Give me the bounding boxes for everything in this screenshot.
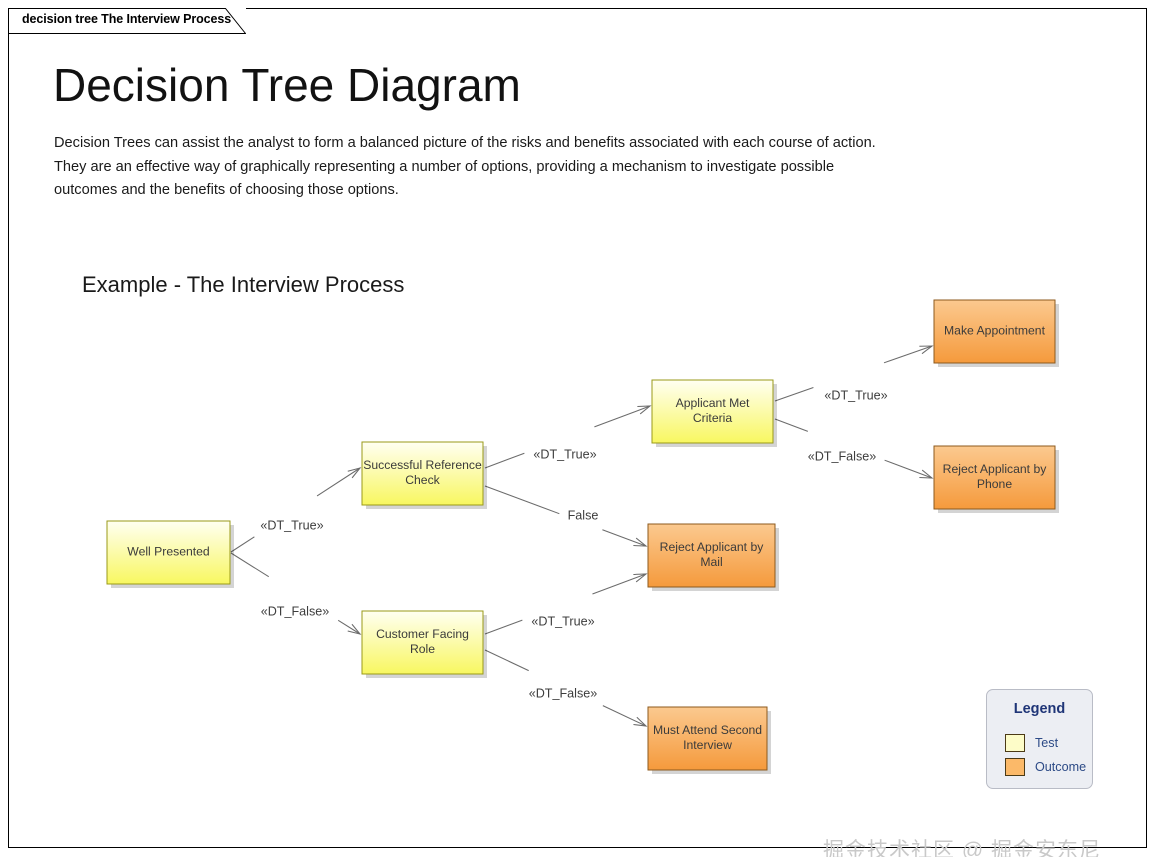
edge-line	[775, 388, 813, 401]
node-customer-facing-role[interactable]: Customer FacingRole	[362, 611, 487, 678]
edge-label: «DT_False»	[808, 449, 877, 463]
edge-line	[592, 574, 646, 594]
node-label: Check	[405, 473, 440, 487]
legend-swatch-outcome	[1005, 758, 1025, 776]
edge-label: «DT_False»	[261, 604, 330, 618]
edge-line	[603, 706, 646, 726]
node-label: Reject Applicant by	[943, 462, 1048, 476]
edge-label: False	[568, 508, 599, 522]
node-make-appointment[interactable]: Make Appointment	[934, 300, 1059, 367]
node-label: Mail	[700, 555, 722, 569]
node-reject-applicant-phone[interactable]: Reject Applicant byPhone	[934, 446, 1059, 513]
edge-successful-reference-to-applicant-met-criteria: «DT_True»	[485, 406, 650, 468]
edge-line	[594, 406, 650, 427]
node-label: Well Presented	[127, 545, 209, 559]
edge-line	[884, 346, 932, 363]
edge-label: «DT_True»	[533, 447, 596, 461]
node-label: Phone	[977, 477, 1012, 491]
node-label: Criteria	[693, 411, 732, 425]
edge-label: «DT_True»	[260, 518, 323, 532]
node-reject-applicant-mail[interactable]: Reject Applicant byMail	[648, 524, 779, 591]
node-successful-reference[interactable]: Successful ReferenceCheck	[362, 442, 487, 509]
edge-successful-reference-to-reject-applicant-mail: False	[485, 486, 646, 546]
node-label: Successful Reference	[363, 458, 482, 472]
legend-item-test: Test	[1005, 734, 1058, 752]
edge-arrowhead	[348, 624, 360, 634]
document-tab[interactable]: decision tree The Interview Process	[8, 8, 246, 33]
edge-arrowhead	[348, 468, 360, 478]
node-must-attend-second[interactable]: Must Attend SecondInterview	[648, 707, 771, 774]
node-well-presented[interactable]: Well Presented	[107, 521, 234, 588]
edge-line	[885, 460, 932, 478]
edge-customer-facing-role-to-reject-applicant-mail: «DT_True»	[485, 574, 646, 634]
edge-arrowhead	[633, 717, 646, 726]
edge-line	[485, 453, 524, 468]
document-tab-label: decision tree The Interview Process	[22, 12, 231, 26]
screenshot-root: decision tree The Interview Process Deci…	[0, 0, 1156, 857]
edge-line	[602, 530, 646, 546]
decision-tree-diagram: «DT_True»«DT_False»«DT_True»False«DT_Tru…	[9, 34, 1146, 847]
edge-label: «DT_True»	[531, 614, 594, 628]
node-label: Make Appointment	[944, 324, 1046, 338]
legend-title: Legend	[987, 701, 1092, 717]
document-body: Decision Tree Diagram Decision Trees can…	[9, 34, 1146, 847]
legend-swatch-test	[1005, 734, 1025, 752]
legend-label-outcome: Outcome	[1035, 760, 1086, 774]
edge-label: «DT_True»	[824, 388, 887, 402]
node-label: Role	[410, 642, 435, 656]
node-label: Interview	[683, 738, 732, 752]
node-label: Must Attend Second	[653, 723, 762, 737]
edge-line	[775, 419, 808, 431]
node-label: Reject Applicant by	[660, 540, 765, 554]
edges-layer: «DT_True»«DT_False»«DT_True»False«DT_Tru…	[231, 346, 932, 726]
edge-label: «DT_False»	[529, 686, 598, 700]
edge-line	[338, 620, 360, 634]
legend-panel: Legend Test Outcome	[986, 689, 1093, 789]
edge-line	[231, 537, 254, 552]
nodes-layer: Well PresentedSuccessful ReferenceCheckC…	[107, 300, 1059, 774]
node-label: Customer Facing	[376, 627, 469, 641]
edge-line	[317, 468, 360, 496]
edge-line	[485, 650, 529, 671]
legend-item-outcome: Outcome	[1005, 758, 1086, 776]
edge-line	[231, 553, 269, 577]
edge-applicant-met-criteria-to-reject-applicant-phone: «DT_False»	[775, 419, 932, 478]
edge-line	[485, 620, 522, 634]
node-applicant-met-criteria[interactable]: Applicant MetCriteria	[652, 380, 777, 447]
edge-well-presented-to-customer-facing-role: «DT_False»	[231, 553, 360, 634]
watermark: 掘金技术社区 @ 掘金安东尼	[823, 834, 1101, 857]
edge-line	[485, 486, 559, 514]
edge-well-presented-to-successful-reference: «DT_True»	[231, 468, 360, 552]
legend-label-test: Test	[1035, 736, 1058, 750]
node-label: Applicant Met	[676, 396, 750, 410]
edge-customer-facing-role-to-must-attend-second: «DT_False»	[485, 650, 646, 726]
edge-applicant-met-criteria-to-make-appointment: «DT_True»	[775, 346, 932, 402]
